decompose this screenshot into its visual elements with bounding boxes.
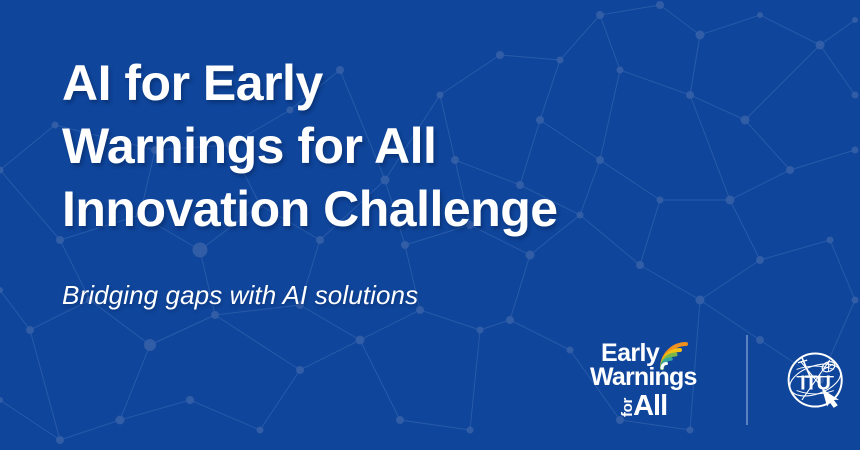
page-title: AI for Early Warnings for All Innovation… [62, 52, 702, 241]
banner-graphic: AI for Early Warnings for All Innovation… [0, 0, 860, 450]
ew4all-all-text: All [633, 391, 667, 421]
title-line-3: Innovation Challenge [62, 178, 702, 241]
ew4all-warnings-text: Warnings [590, 364, 697, 390]
early-warnings-for-all-logo: Early Warnings for All [590, 334, 710, 426]
logo-divider [746, 335, 748, 425]
logo-lockup: Early Warnings for All [560, 330, 848, 430]
title-line-1: AI for Early [62, 52, 702, 115]
title-line-2: Warnings for All [62, 115, 702, 178]
subtitle: Bridging gaps with AI solutions [62, 280, 418, 311]
itu-logo-text: ITU [800, 372, 830, 394]
itu-logo: ITU [782, 344, 848, 416]
ew4all-for-text: for [619, 398, 636, 417]
ew4all-logo-row-3: for All [618, 391, 667, 421]
